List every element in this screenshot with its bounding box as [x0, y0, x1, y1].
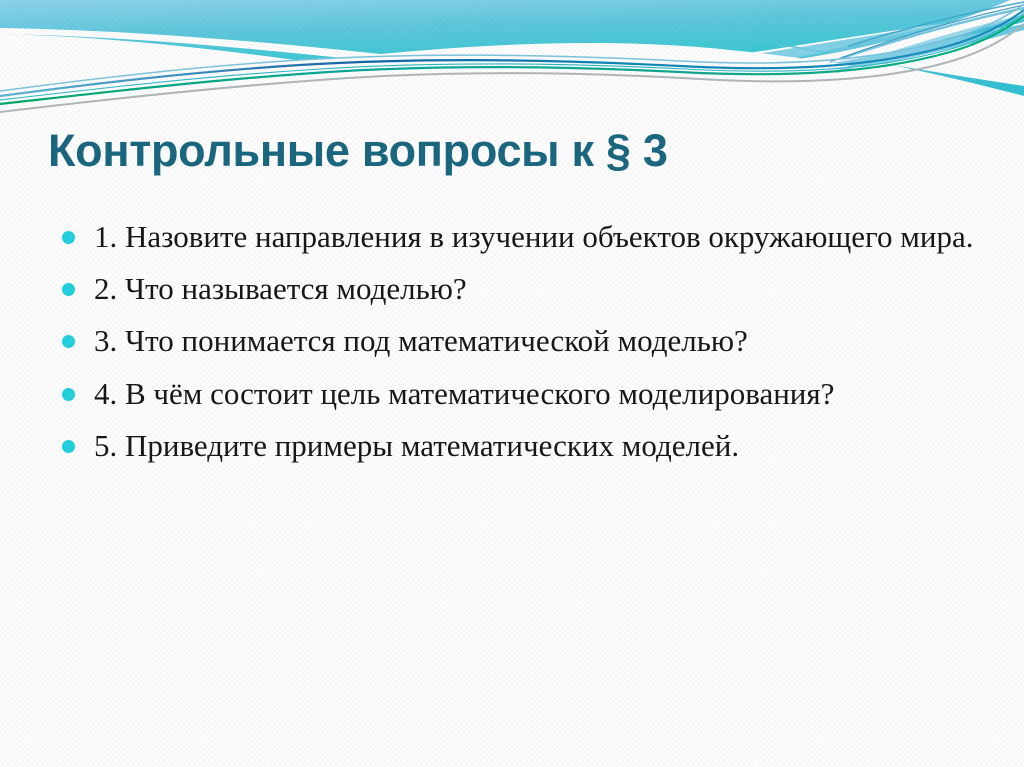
list-item: 3. Что понимается под математической мод…: [48, 320, 978, 361]
list-item: 1. Назовите направления в изучении объек…: [48, 216, 978, 257]
list-item: 2. Что называется моделью?: [48, 268, 978, 309]
title-block: Контрольные вопросы к § 3: [48, 126, 978, 176]
bullet-dot-icon: [62, 440, 75, 453]
page-title: Контрольные вопросы к § 3: [48, 126, 978, 176]
question-text: 1. Назовите направления в изучении объек…: [94, 216, 978, 257]
wave-group: [0, 0, 1024, 115]
question-text: 4. В чём состоит цель математического мо…: [94, 373, 978, 414]
bullet-dot-icon: [62, 283, 75, 296]
bullet-dot-icon: [62, 231, 75, 244]
question-text: 5. Приведите примеры математических моде…: [94, 425, 978, 466]
bullet-dot-icon: [62, 335, 75, 348]
list-item: 4. В чём состоит цель математического мо…: [48, 373, 978, 414]
question-text: 2. Что называется моделью?: [94, 268, 978, 309]
bullet-dot-icon: [62, 388, 75, 401]
presentation-slide: Контрольные вопросы к § 3 1. Назовите на…: [0, 0, 1024, 767]
question-text: 3. Что понимается под математической мод…: [94, 320, 978, 361]
list-item: 5. Приведите примеры математических моде…: [48, 425, 978, 466]
question-list: 1. Назовите направления в изучении объек…: [48, 216, 978, 466]
header-wave-decoration: [0, 0, 1024, 115]
